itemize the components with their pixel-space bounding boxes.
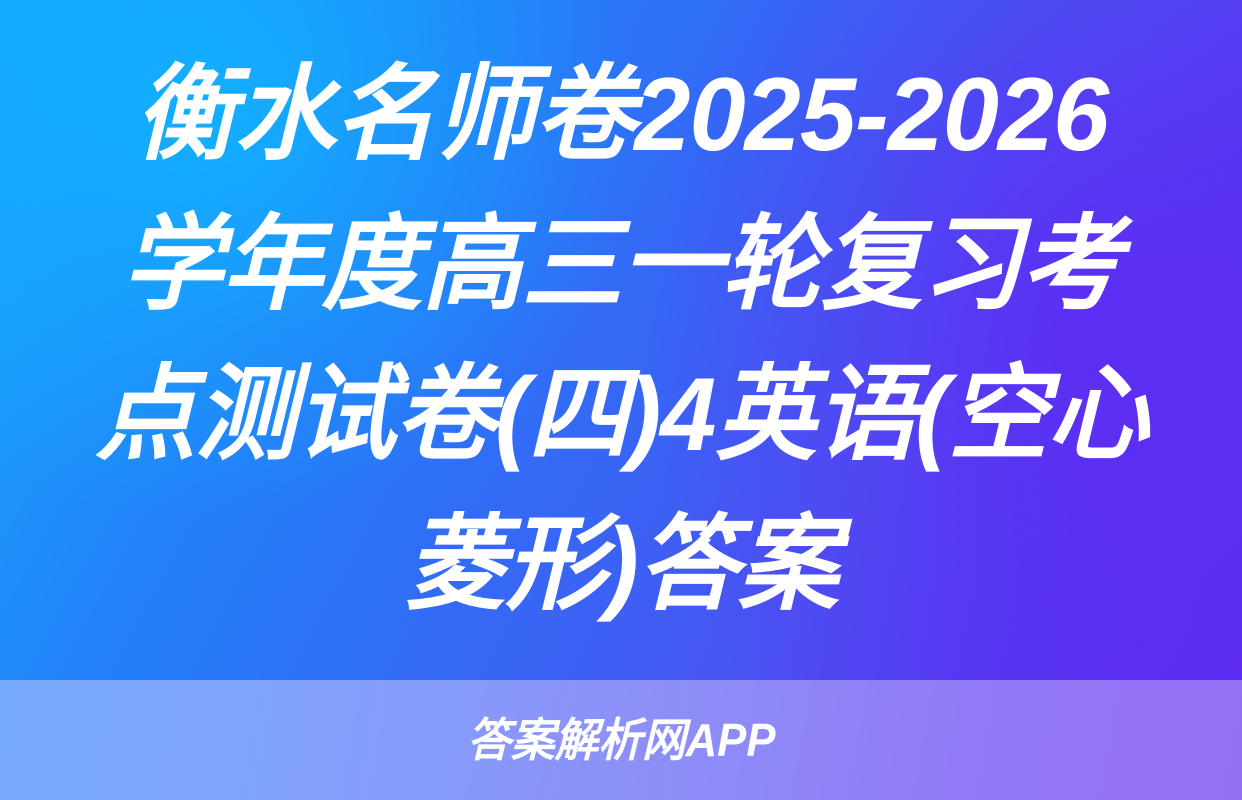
title-block: 衡水名师卷2025-2026学年度高三一轮复习考点测试卷(四)4英语(空心菱形)… — [0, 0, 1242, 680]
poster-canvas: 衡水名师卷2025-2026学年度高三一轮复习考点测试卷(四)4英语(空心菱形)… — [0, 0, 1242, 800]
footer-bar: 答案解析网APP — [0, 680, 1242, 800]
footer-brand-label: 答案解析网APP — [467, 717, 775, 763]
page-title: 衡水名师卷2025-2026学年度高三一轮复习考点测试卷(四)4英语(空心菱形)… — [85, 40, 1157, 640]
